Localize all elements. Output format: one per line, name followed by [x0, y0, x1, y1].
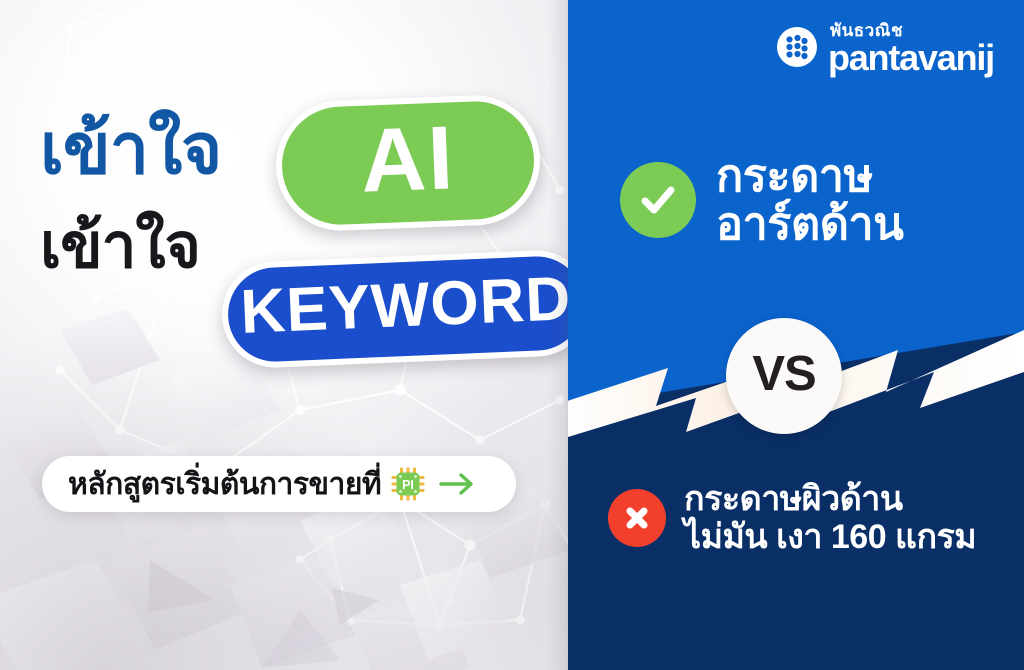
brand-logo[interactable]: พันธวณิช pantavanij — [776, 22, 994, 76]
vs-badge: VS — [726, 318, 842, 434]
vs-label: VS — [752, 346, 815, 402]
comparison-row-bad: กระดาษผิวด้าน ไม่มัน เงา 160 แกรม — [608, 480, 976, 556]
ai-badge-label: AI — [359, 113, 456, 207]
cpu-chip-icon: PI — [391, 467, 425, 501]
cta-search-bar[interactable]: หลักสูตรเริ่มต้นการขายที่ — [42, 456, 516, 512]
headline-word-dark: เข้าใจ — [40, 216, 200, 278]
brand-logo-text: พันธวณิช pantavanij — [828, 22, 994, 76]
ai-badge[interactable]: AI — [274, 93, 543, 233]
keyword-badge[interactable]: KEYWORD — [220, 248, 578, 369]
comparison-bad-line-2: ไม่มัน เงา 160 แกรม — [684, 518, 976, 556]
comparison-good-line-2: อาร์ตด้าน — [716, 198, 903, 249]
pantavanij-dots-logo-icon — [776, 26, 818, 73]
keyword-badge-label: KEYWORD — [239, 268, 572, 344]
cta-text: หลักสูตรเริ่มต้นการขายที่ — [68, 461, 381, 508]
x-circle-icon — [608, 489, 666, 547]
comparison-good-line-1: กระดาษ — [716, 150, 873, 201]
comparison-bad-line-1: กระดาษผิวด้าน — [684, 480, 903, 518]
promo-poster: เข้าใจ เข้าใจ AI KEYWORD หลักสูตรเริ่มต้… — [0, 0, 1024, 670]
right-panel: พันธวณิช pantavanij กระดาษ อาร์ตด้าน VS — [568, 0, 1024, 670]
check-circle-icon — [620, 162, 696, 238]
comparison-bad-text: กระดาษผิวด้าน ไม่มัน เงา 160 แกรม — [684, 480, 976, 556]
arrow-right-icon[interactable] — [439, 471, 475, 497]
svg-text:PI: PI — [402, 478, 414, 492]
brand-name-latin: pantavanij — [828, 40, 994, 76]
left-panel: เข้าใจ เข้าใจ AI KEYWORD หลักสูตรเริ่มต้… — [0, 0, 578, 670]
headline-word-blue: เข้าใจ — [40, 114, 221, 184]
comparison-row-good: กระดาษ อาร์ตด้าน — [620, 152, 903, 247]
comparison-good-text: กระดาษ อาร์ตด้าน — [716, 152, 903, 247]
